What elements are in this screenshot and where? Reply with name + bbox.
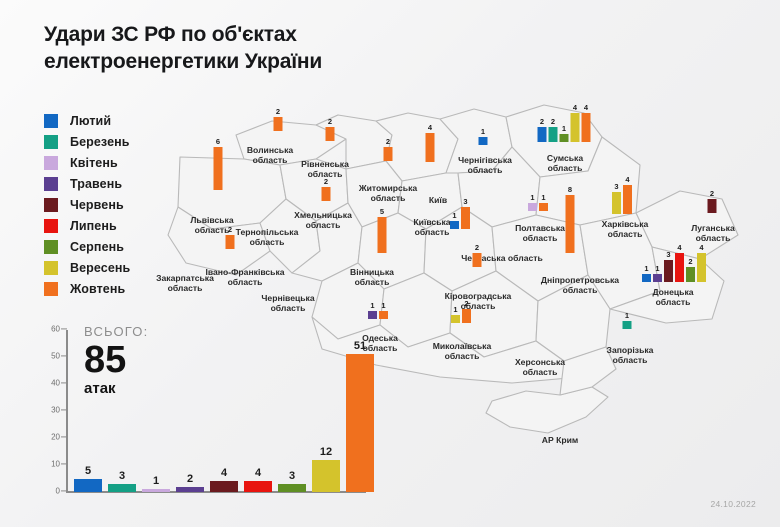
oblast-bar-value: 8 <box>568 185 572 194</box>
chart-bar-fill <box>278 484 306 492</box>
y-tick-mark <box>61 463 67 464</box>
chart-bar: 5 <box>74 479 102 493</box>
oblast-bar-fill <box>274 117 283 131</box>
y-tick-mark <box>61 382 67 383</box>
oblast-bar-cluster: 113424 <box>642 253 706 282</box>
oblast-bar-cluster: 2 <box>326 127 335 141</box>
oblast-bar-value: 2 <box>228 225 232 234</box>
oblast-bar-fill <box>379 311 388 319</box>
oblast-bar-fill <box>528 203 537 211</box>
oblast-bar-fill <box>623 185 632 214</box>
oblast-bar-fill <box>653 274 662 282</box>
date-stamp: 24.10.2022 <box>710 499 756 509</box>
oblast-bar-fill <box>326 127 335 141</box>
oblast-bar-value: 4 <box>699 243 703 252</box>
oblast-bar-value: 2 <box>475 243 479 252</box>
oblast-bar: 1 <box>379 311 388 319</box>
chart-bar: 4 <box>244 481 272 492</box>
chart-bar-fill <box>312 460 340 492</box>
oblast-bar: 1 <box>560 134 569 142</box>
legend-item-label: Червень <box>70 198 124 212</box>
chart-bar-fill <box>244 481 272 492</box>
oblast-bar: 2 <box>686 267 695 281</box>
legend-item: Липень <box>44 215 130 236</box>
y-tick-label: 60 <box>38 325 60 334</box>
oblast-bar: 6 <box>214 147 223 190</box>
oblast-bar-fill <box>384 147 393 161</box>
legend-item: Червень <box>44 194 130 215</box>
oblast-bar: 3 <box>664 260 673 282</box>
oblast-bar-value: 3 <box>463 197 467 206</box>
oblast-bar-value: 1 <box>644 264 648 273</box>
oblast-bar: 2 <box>462 309 471 323</box>
oblast-bar-fill <box>708 199 717 213</box>
oblast-bar-fill <box>538 127 547 141</box>
total-unit: атак <box>84 380 148 397</box>
oblast-bar: 1 <box>368 311 377 319</box>
chart-bar-value: 4 <box>221 467 227 479</box>
oblast-bar-fill <box>560 134 569 142</box>
chart-bar: 2 <box>176 487 204 492</box>
legend-item: Лютий <box>44 110 130 131</box>
legend-item-label: Серпень <box>70 240 124 254</box>
oblast-bar-cluster: 11 <box>368 307 388 319</box>
oblast-bar-cluster: 11 <box>528 199 548 211</box>
oblast-bar: 2 <box>473 253 482 267</box>
oblast-bar-fill <box>368 311 377 319</box>
oblast-bar: 4 <box>623 185 632 214</box>
oblast-bar-fill <box>686 267 695 281</box>
legend-item-label: Жовтень <box>70 282 125 296</box>
chart-bar-value: 5 <box>85 465 91 477</box>
oblast-bar-value: 1 <box>481 127 485 136</box>
oblast-bar: 1 <box>623 321 632 329</box>
legend-item: Серпень <box>44 236 130 257</box>
chart-bar-fill <box>346 354 374 492</box>
chart-bar: 3 <box>108 484 136 492</box>
oblast-bar-value: 2 <box>386 137 390 146</box>
oblast-bar-value: 2 <box>710 189 714 198</box>
oblast-bar: 8 <box>566 195 575 253</box>
oblast-bar: 2 <box>274 117 283 131</box>
legend-item: Березень <box>44 131 130 152</box>
y-tick-label: 50 <box>38 352 60 361</box>
legend-swatch-icon <box>44 219 58 233</box>
y-tick-mark <box>61 490 67 491</box>
chart-bar-value: 3 <box>289 470 295 482</box>
legend-item-label: Липень <box>70 219 117 233</box>
oblast-bar: 2 <box>708 199 717 213</box>
y-tick-label: 20 <box>38 433 60 442</box>
oblast-bar-value: 2 <box>551 117 555 126</box>
oblast-bar-value: 2 <box>276 107 280 116</box>
oblast-bar-cluster: 13 <box>450 207 470 229</box>
chart-bar-fill <box>74 479 102 493</box>
legend-item: Вересень <box>44 257 130 278</box>
chart-bar-fill <box>176 487 204 492</box>
legend-item-label: Квітень <box>70 156 118 170</box>
monthly-attacks-bar-chart: 0102030405060 53124431251 ВСЬОГО: 85 ата… <box>22 322 372 512</box>
chart-bar: 51 <box>346 354 374 492</box>
chart-bar-value: 4 <box>255 467 261 479</box>
oblast-bar-value: 3 <box>614 182 618 191</box>
legend: ЛютийБерезеньКвітеньТравеньЧервеньЛипень… <box>44 110 130 299</box>
oblast-bar-cluster: 12 <box>451 309 471 323</box>
oblast-bar-cluster: 2 <box>226 235 235 249</box>
oblast-bar-value: 4 <box>677 243 681 252</box>
legend-item: Травень <box>44 173 130 194</box>
y-tick-mark <box>61 409 67 410</box>
chart-bar: 12 <box>312 460 340 492</box>
oblast-bar-fill <box>461 207 470 229</box>
oblast-bar-cluster: 6 <box>214 147 223 190</box>
legend-swatch-icon <box>44 156 58 170</box>
oblast-bar-fill <box>642 274 651 282</box>
chart-bar-fill <box>210 481 238 492</box>
oblast-bar-value: 1 <box>453 305 457 314</box>
oblast-bar-cluster: 1 <box>479 133 488 145</box>
legend-swatch-icon <box>44 177 58 191</box>
oblast-bar-fill <box>566 195 575 253</box>
oblast-bar-fill <box>675 253 684 282</box>
oblast-bar: 1 <box>539 203 548 211</box>
oblast-bar-cluster: 2 <box>473 253 482 267</box>
oblast-bar-value: 3 <box>666 250 670 259</box>
legend-swatch-icon <box>44 240 58 254</box>
legend-swatch-icon <box>44 261 58 275</box>
y-tick-label: 30 <box>38 406 60 415</box>
legend-swatch-icon <box>44 135 58 149</box>
oblast-bar: 1 <box>451 315 460 323</box>
oblast-bar-value: 4 <box>573 103 577 112</box>
oblast-bar-cluster: 4 <box>426 133 435 162</box>
oblast-bar-fill <box>612 192 621 214</box>
oblast-bar: 2 <box>226 235 235 249</box>
legend-item-label: Березень <box>70 135 130 149</box>
page-title: Удари ЗС РФ по об'єктах електроенергетик… <box>44 22 474 76</box>
chart-bar-value: 12 <box>320 446 332 458</box>
oblast-bar-fill <box>450 221 459 229</box>
oblast-bar-fill <box>226 235 235 249</box>
chart-bar-value: 3 <box>119 470 125 482</box>
oblast-bar-cluster: 2 <box>322 187 331 201</box>
oblast-bar-cluster: 1 <box>623 317 632 329</box>
oblast-bar: 1 <box>653 274 662 282</box>
oblast-bar-cluster: 8 <box>566 195 575 253</box>
legend-item: Квітень <box>44 152 130 173</box>
oblast-bar-fill <box>549 127 558 141</box>
oblast-bar-fill <box>473 253 482 267</box>
oblast-bar: 4 <box>675 253 684 282</box>
oblast-bar: 1 <box>450 221 459 229</box>
oblast-bar-value: 2 <box>464 299 468 308</box>
oblast-bar-fill <box>539 203 548 211</box>
chart-bar-value: 2 <box>187 473 193 485</box>
oblast-bar: 5 <box>378 217 387 253</box>
oblast-bar-fill <box>322 187 331 201</box>
oblast-bar-fill <box>214 147 223 190</box>
legend-item-label: Травень <box>70 177 122 191</box>
oblast-bar-cluster: 2 <box>708 199 717 213</box>
oblast-bar-value: 1 <box>655 264 659 273</box>
oblast-bar-fill <box>623 321 632 329</box>
oblast-bar-value: 1 <box>541 193 545 202</box>
oblast-bar-cluster: 2 <box>274 117 283 131</box>
legend-item-label: Вересень <box>70 261 130 275</box>
oblast-bar-value: 6 <box>216 137 220 146</box>
oblast-bar-value: 1 <box>562 124 566 133</box>
y-tick-mark <box>61 328 67 329</box>
total-value: 85 <box>84 341 148 379</box>
oblast-bar-value: 2 <box>540 117 544 126</box>
oblast-bar-cluster: 34 <box>612 185 632 214</box>
oblast-bar-fill <box>697 253 706 282</box>
oblast-bar: 3 <box>612 192 621 214</box>
oblast-bar-value: 4 <box>625 175 629 184</box>
chart-bar-value: 51 <box>354 340 366 352</box>
oblast-bar-cluster: 22144 <box>538 113 591 142</box>
oblast-bar: 1 <box>528 203 537 211</box>
oblast-bar: 1 <box>479 137 488 145</box>
oblast-bar-fill <box>582 113 591 142</box>
total-callout: ВСЬОГО: 85 атак <box>84 324 148 397</box>
legend-swatch-icon <box>44 282 58 296</box>
y-tick-mark <box>61 355 67 356</box>
oblast-bar-fill <box>426 133 435 162</box>
oblast-bar: 2 <box>322 187 331 201</box>
oblast-bar: 1 <box>642 274 651 282</box>
oblast-bar-fill <box>479 137 488 145</box>
oblast-bar: 4 <box>697 253 706 282</box>
total-label: ВСЬОГО: <box>84 324 148 339</box>
y-tick-label: 10 <box>38 460 60 469</box>
oblast-bar-value: 5 <box>380 207 384 216</box>
oblast-bar: 2 <box>326 127 335 141</box>
chart-bar-value: 1 <box>153 475 159 487</box>
oblast-bar-value: 2 <box>688 257 692 266</box>
oblast-bar-fill <box>571 113 580 142</box>
oblast-bar-cluster: 2 <box>384 147 393 161</box>
chart-bar-fill <box>142 489 170 492</box>
oblast-bar: 3 <box>461 207 470 229</box>
oblast-bar: 2 <box>538 127 547 141</box>
y-tick-label: 0 <box>38 487 60 496</box>
oblast-bar: 4 <box>571 113 580 142</box>
chart-bar: 4 <box>210 481 238 492</box>
legend-item: Жовтень <box>44 278 130 299</box>
oblast-bar-fill <box>451 315 460 323</box>
legend-swatch-icon <box>44 114 58 128</box>
y-tick-mark <box>61 436 67 437</box>
oblast-bar: 4 <box>582 113 591 142</box>
chart-bar: 1 <box>142 489 170 492</box>
chart-y-axis <box>66 330 68 492</box>
oblast-bar-value: 1 <box>370 301 374 310</box>
oblast-bar-cluster: 5 <box>378 217 387 253</box>
oblast-bar-value: 1 <box>452 211 456 220</box>
chart-bar: 3 <box>278 484 306 492</box>
oblast-bar-value: 2 <box>328 117 332 126</box>
legend-item-label: Лютий <box>70 114 111 128</box>
oblast-bar-value: 4 <box>584 103 588 112</box>
oblast-bar: 4 <box>426 133 435 162</box>
oblast-bar-value: 1 <box>625 311 629 320</box>
oblast-bar-fill <box>462 309 471 323</box>
y-tick-label: 40 <box>38 379 60 388</box>
oblast-bar-fill <box>378 217 387 253</box>
oblast-bar: 2 <box>384 147 393 161</box>
oblast-bar-value: 1 <box>530 193 534 202</box>
legend-swatch-icon <box>44 198 58 212</box>
oblast-bar-value: 2 <box>324 177 328 186</box>
chart-bar-fill <box>108 484 136 492</box>
oblast-bar: 2 <box>549 127 558 141</box>
oblast-bar-value: 1 <box>381 301 385 310</box>
oblast-bar-fill <box>664 260 673 282</box>
oblast-bar-value: 4 <box>428 123 432 132</box>
